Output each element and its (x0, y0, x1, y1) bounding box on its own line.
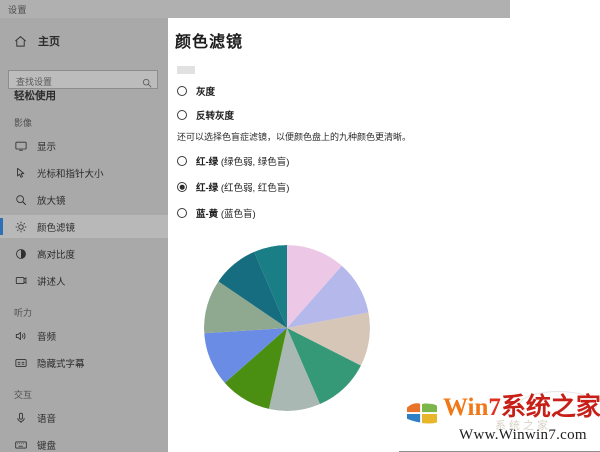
speaker-icon (14, 329, 27, 342)
title-bar-filler (510, 0, 600, 18)
radio-option-grayscale[interactable]: 灰度 (177, 84, 215, 98)
sidebar-section-title: 轻松使用 (14, 88, 56, 103)
description-text: 还可以选择色盲症滤镜，以便颜色盘上的九种颜色更清晰。 (177, 130, 411, 143)
sidebar-item-closed-captions[interactable]: 隐藏式字幕 (0, 351, 168, 374)
radio-label-bold: 反转灰度 (196, 111, 234, 122)
radio-indicator[interactable] (177, 208, 187, 218)
sidebar: 主页 查找设置 轻松使用 影像 显示 (0, 18, 168, 452)
sidebar-item-narrator[interactable]: 讲述人 (0, 269, 168, 292)
watermark-url: Www.Winwin7.com (459, 427, 587, 444)
sidebar-item-keyboard[interactable]: 键盘 (0, 433, 168, 452)
title-bar-text: 设置 (8, 3, 27, 16)
sidebar-group-label-vision: 影像 (14, 116, 32, 129)
radio-label-sub: (红色弱, 红色盲) (221, 183, 290, 194)
radio-option-blue-yellow-tritanopia[interactable]: 蓝-黄 (蓝色盲) (177, 206, 256, 220)
cursor-icon (14, 166, 27, 179)
radio-option-red-green-deuteranopia[interactable]: 红-绿 (绿色弱, 绿色盲) (177, 154, 289, 168)
radio-indicator[interactable] (177, 86, 187, 96)
sidebar-item-cursor-pointer-size-label: 光标和指针大小 (37, 166, 104, 180)
sidebar-item-closed-captions-label: 隐藏式字幕 (37, 356, 85, 370)
home-icon (14, 35, 27, 48)
sidebar-item-color-filters-label: 颜色滤镜 (37, 220, 75, 234)
main-content: 颜色滤镜 灰度 反转灰度 还可以选择色盲症滤镜，以便颜色盘上的九种颜色更清晰。 … (168, 18, 600, 452)
radio-option-grayscale-label: 灰度 (196, 84, 215, 98)
radio-label-sub: (绿色弱, 绿色盲) (221, 157, 290, 168)
sidebar-group-label-hearing: 听力 (14, 306, 32, 319)
contrast-icon (14, 247, 27, 260)
radio-indicator[interactable] (177, 182, 187, 192)
watermark-brand-seven: 7 (488, 394, 501, 421)
sidebar-item-home-label: 主页 (38, 33, 60, 49)
search-input[interactable]: 查找设置 (8, 70, 158, 89)
radio-option-red-green-protanopia-label: 红-绿 (红色弱, 红色盲) (196, 180, 289, 194)
captions-icon (14, 356, 27, 369)
sidebar-group-label-interaction: 交互 (14, 388, 32, 401)
radio-indicator[interactable] (177, 110, 187, 120)
magnifier-icon (14, 193, 27, 206)
radio-label-sub: (蓝色盲) (221, 209, 256, 220)
sidebar-item-home[interactable]: 主页 (0, 30, 168, 52)
sidebar-item-high-contrast-label: 高对比度 (37, 247, 75, 261)
keyboard-icon (14, 438, 27, 451)
watermark-brand: Win7系统之家 (443, 395, 600, 420)
color-wheel-svg (204, 245, 370, 411)
sidebar-item-magnifier-label: 放大镜 (37, 193, 66, 207)
settings-window: 设置 主页 查找设置 轻松使用 影像 (0, 0, 600, 452)
sidebar-item-high-contrast[interactable]: 高对比度 (0, 242, 168, 265)
monitor-icon (14, 139, 27, 152)
radio-label-bold: 蓝-黄 (196, 209, 218, 220)
radio-option-inverted-grayscale[interactable]: 反转灰度 (177, 108, 234, 122)
search-input-text: 查找设置 (16, 75, 52, 88)
page-title: 颜色滤镜 (175, 28, 243, 52)
radio-option-blue-yellow-tritanopia-label: 蓝-黄 (蓝色盲) (196, 206, 256, 220)
sidebar-item-keyboard-label: 键盘 (37, 438, 56, 452)
radio-option-red-green-protanopia[interactable]: 红-绿 (红色弱, 红色盲) (177, 180, 289, 194)
sidebar-item-speech[interactable]: 语音 (0, 406, 168, 429)
sidebar-item-cursor-pointer-size[interactable]: 光标和指针大小 (0, 161, 168, 184)
sidebar-item-audio[interactable]: 音频 (0, 324, 168, 347)
residual-control (177, 66, 195, 74)
search-icon (142, 75, 152, 85)
radio-label-bold: 红-绿 (196, 183, 218, 194)
sidebar-item-narrator-label: 讲述人 (37, 274, 66, 288)
color-wheel (204, 245, 370, 411)
watermark-brand-cn: 系统之家 (501, 394, 600, 421)
sidebar-item-color-filters[interactable]: 颜色滤镜 (0, 215, 168, 238)
sidebar-item-display-label: 显示 (37, 139, 56, 153)
selection-indicator (0, 218, 3, 235)
watermark: 系统之家 Win7系统之家 Www.Winwin7.com (399, 389, 600, 452)
watermark-brand-win: Win (443, 394, 488, 421)
narrator-icon (14, 274, 27, 287)
radio-option-red-green-deuteranopia-label: 红-绿 (绿色弱, 绿色盲) (196, 154, 289, 168)
sidebar-item-audio-label: 音频 (37, 329, 56, 343)
radio-label-bold: 灰度 (196, 87, 215, 98)
sidebar-item-display[interactable]: 显示 (0, 134, 168, 157)
radio-indicator[interactable] (177, 156, 187, 166)
radio-option-inverted-grayscale-label: 反转灰度 (196, 108, 234, 122)
microphone-icon (14, 411, 27, 424)
sidebar-item-speech-label: 语音 (37, 411, 56, 425)
sidebar-item-magnifier[interactable]: 放大镜 (0, 188, 168, 211)
windows-logo-icon (403, 399, 441, 429)
title-bar: 设置 (0, 0, 510, 18)
radio-label-bold: 红-绿 (196, 157, 218, 168)
brightness-icon (14, 220, 27, 233)
